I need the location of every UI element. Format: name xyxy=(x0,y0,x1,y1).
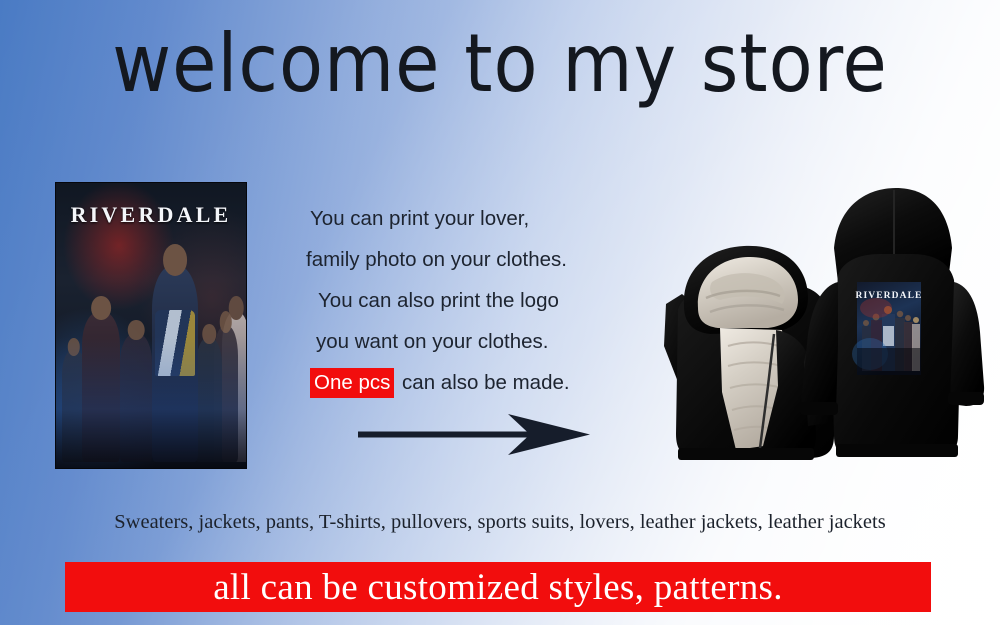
customization-banner-text: all can be customized styles, patterns. xyxy=(213,566,783,609)
customization-banner: all can be customized styles, patterns. xyxy=(65,562,931,612)
poster-title-text: RIVERDALE xyxy=(56,202,246,228)
product-category-list: Sweaters, jackets, pants, T-shirts, pull… xyxy=(0,511,1000,534)
description-text-block: You can print your lover, family photo o… xyxy=(306,198,636,403)
page-title: welcome to my store xyxy=(0,24,1000,104)
description-line-4: you want on your clothes. xyxy=(306,321,636,362)
riverdale-poster-image: RIVERDALE xyxy=(55,182,247,469)
hoodie-product-photo: RIVERDALE xyxy=(648,186,986,478)
one-pcs-highlight: One pcs xyxy=(310,368,394,398)
description-line-1: You can print your lover, xyxy=(306,198,636,239)
description-line-2: family photo on your clothes. xyxy=(306,239,636,280)
description-line-5-rest: can also be made. xyxy=(396,371,569,394)
right-arrow-icon xyxy=(358,414,590,456)
description-line-5: One pcs can also be made. xyxy=(306,362,636,403)
promo-banner: welcome to my store RIVERDALE You can pr… xyxy=(0,0,1000,625)
description-line-3: You can also print the logo xyxy=(306,280,636,321)
poster-glow xyxy=(56,337,246,468)
svg-text:RIVERDALE: RIVERDALE xyxy=(856,291,923,301)
